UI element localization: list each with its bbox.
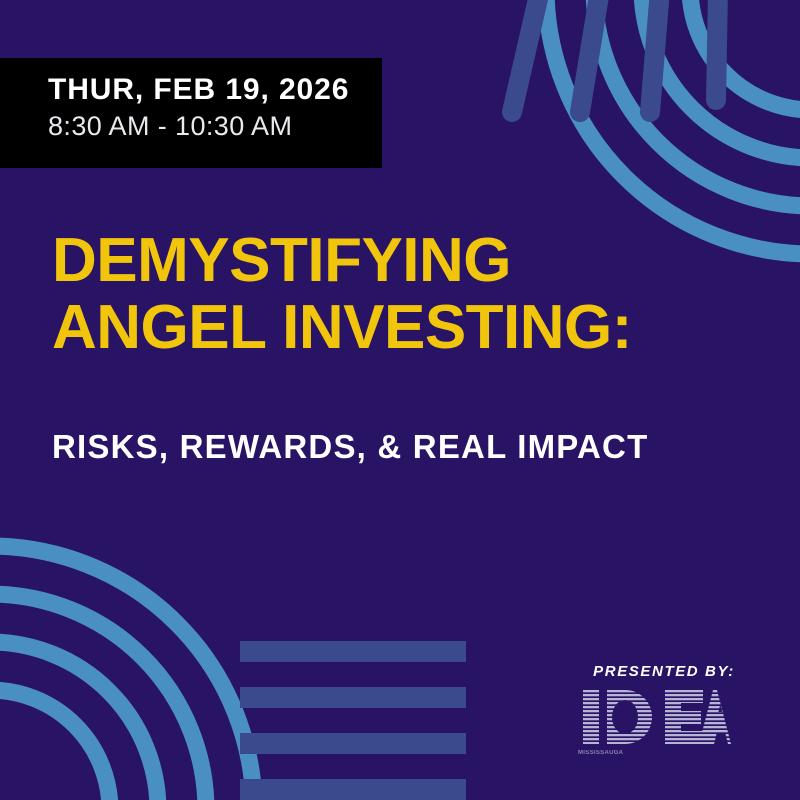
partner-wordmark: MISSISSAUGA <box>564 750 764 756</box>
event-time: 8:30 AM - 10:30 AM <box>48 110 382 142</box>
page-title: DEMYSTIFYING ANGEL INVESTING: <box>52 228 752 362</box>
idea-logo <box>579 686 749 748</box>
title-line-1: DEMYSTIFYING <box>52 228 752 295</box>
page-subtitle: RISKS, REWARDS, & REAL IMPACT <box>52 428 648 466</box>
event-poster: THUR, FEB 19, 2026 8:30 AM - 10:30 AM DE… <box>0 0 800 800</box>
title-line-2: ANGEL INVESTING: <box>52 295 752 362</box>
presenter-block: PRESENTED BY: <box>564 663 764 756</box>
event-date: THUR, FEB 19, 2026 <box>48 72 382 107</box>
presented-by-label: PRESENTED BY: <box>564 663 764 680</box>
event-date-chip: THUR, FEB 19, 2026 8:30 AM - 10:30 AM <box>0 58 382 168</box>
